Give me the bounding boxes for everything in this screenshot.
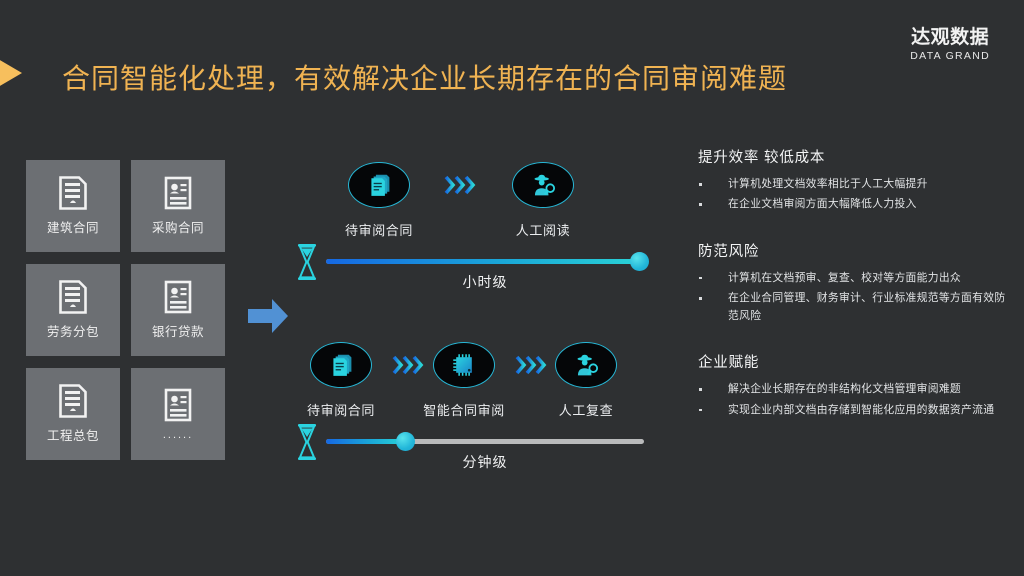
benefit-section: 企业赋能 解决企业长期存在的非结构化文档管理审阅难题 实现企业内部文档由存储到智… bbox=[698, 351, 1010, 419]
title-arrow-icon bbox=[0, 45, 22, 101]
flow-node-pending-contracts[interactable] bbox=[310, 342, 372, 388]
flow-manual: 待审阅合同 人工阅读 小时级 bbox=[296, 162, 644, 288]
tile-label: 银行贷款 bbox=[152, 321, 204, 340]
slider-knob[interactable] bbox=[396, 432, 415, 451]
benefit-bullet: 在企业合同管理、财务审计、行业标准规范等方面有效防范风险 bbox=[698, 290, 1010, 325]
tile-contract-type[interactable]: ...... bbox=[131, 368, 225, 460]
flow-node-row bbox=[296, 342, 644, 394]
stacked-documents-icon bbox=[328, 352, 355, 379]
detective-person-magnifier-icon bbox=[530, 172, 557, 199]
bullet-dot-icon bbox=[699, 388, 702, 391]
tile-label: 劳务分包 bbox=[47, 321, 99, 340]
cpu-chip-icon bbox=[451, 352, 477, 378]
benefit-bullet-text: 计算机处理文档效率相比于人工大幅提升 bbox=[728, 178, 928, 190]
benefit-bullet: 计算机在文档预审、复查、校对等方面能力出众 bbox=[698, 270, 1010, 287]
benefit-bullet-list: 计算机处理文档效率相比于人工大幅提升 在企业文档审阅方面大幅降低人力投入 bbox=[698, 176, 1010, 214]
benefit-bullet-list: 计算机在文档预审、复查、校对等方面能力出众 在企业合同管理、财务审计、行业标准规… bbox=[698, 270, 1010, 325]
duration-slider-manual[interactable]: 小时级 bbox=[296, 242, 644, 288]
flow-node-ai-review[interactable] bbox=[433, 342, 495, 388]
slide-canvas: 达观数据 DATA GRAND 合同智能化处理，有效解决企业长期存在的合同审阅难… bbox=[0, 0, 1024, 576]
slider-fill bbox=[326, 259, 644, 264]
flow-node-label: 待审阅合同 bbox=[345, 220, 413, 239]
duration-slider-ai[interactable]: 分钟级 bbox=[296, 422, 644, 468]
flow-ai: 待审阅合同 智能合同审阅 人工复查 分钟级 bbox=[296, 342, 644, 468]
benefit-bullet-text: 在企业合同管理、财务审计、行业标准规范等方面有效防范风险 bbox=[728, 292, 1005, 321]
id-card-document-icon bbox=[163, 388, 193, 422]
flow-node-row bbox=[296, 162, 644, 214]
flow-node-label: 人工阅读 bbox=[516, 220, 570, 239]
tile-contract-type[interactable]: 采购合同 bbox=[131, 160, 225, 252]
flow-node-label: 待审阅合同 bbox=[307, 400, 375, 419]
stacked-documents-icon bbox=[366, 172, 393, 199]
benefit-bullet-list: 解决企业长期存在的非结构化文档管理审阅难题 实现企业内部文档由存储到智能化应用的… bbox=[698, 381, 1010, 419]
triple-chevron-right-icon bbox=[515, 354, 549, 376]
benefit-title: 企业赋能 bbox=[698, 351, 1010, 372]
bullet-dot-icon bbox=[699, 297, 702, 300]
bullet-dot-icon bbox=[699, 183, 702, 186]
brand-logo: 达观数据 DATA GRAND bbox=[910, 28, 990, 62]
benefit-bullet-text: 计算机在文档预审、复查、校对等方面能力出众 bbox=[728, 272, 961, 284]
triple-chevron-right-icon bbox=[444, 174, 478, 196]
benefit-bullet-text: 解决企业长期存在的非结构化文档管理审阅难题 bbox=[728, 383, 961, 395]
benefits-panel: 提升效率 较低成本 计算机处理文档效率相比于人工大幅提升 在企业文档审阅方面大幅… bbox=[698, 146, 1010, 422]
right-arrow-icon bbox=[246, 296, 290, 336]
slider-track[interactable] bbox=[326, 439, 644, 444]
benefit-bullet: 在企业文档审阅方面大幅降低人力投入 bbox=[698, 196, 1010, 213]
slider-fill bbox=[326, 439, 406, 444]
tile-label: 工程总包 bbox=[47, 425, 99, 444]
contract-type-grid: 建筑合同 采购合同 bbox=[26, 160, 225, 460]
slider-track[interactable] bbox=[326, 259, 644, 264]
benefit-bullet: 计算机处理文档效率相比于人工大幅提升 bbox=[698, 176, 1010, 193]
tile-label: 建筑合同 bbox=[47, 217, 99, 236]
flow-node-label: 人工复查 bbox=[559, 400, 613, 419]
duration-tier-label: 分钟级 bbox=[296, 452, 644, 472]
benefit-bullet-text: 在企业文档审阅方面大幅降低人力投入 bbox=[728, 198, 917, 210]
benefit-title: 提升效率 较低成本 bbox=[698, 146, 1010, 167]
logo-text-cn: 达观数据 bbox=[910, 28, 990, 48]
benefit-bullet: 解决企业长期存在的非结构化文档管理审阅难题 bbox=[698, 381, 1010, 398]
tile-contract-type[interactable]: 劳务分包 bbox=[26, 264, 120, 356]
triple-chevron-right-icon bbox=[392, 354, 426, 376]
tile-label: ...... bbox=[163, 429, 193, 441]
duration-tier-label: 小时级 bbox=[296, 272, 644, 292]
logo-text-en: DATA GRAND bbox=[910, 50, 990, 62]
detective-person-magnifier-icon bbox=[573, 352, 600, 379]
benefit-bullet-text: 实现企业内部文档由存储到智能化应用的数据资产流通 bbox=[728, 404, 994, 416]
id-card-document-icon bbox=[163, 176, 193, 210]
benefit-title: 防范风险 bbox=[698, 240, 1010, 261]
flow-node-pending-contracts[interactable] bbox=[348, 162, 410, 208]
benefit-section: 防范风险 计算机在文档预审、复查、校对等方面能力出众 在企业合同管理、财务审计、… bbox=[698, 240, 1010, 325]
document-contract-icon bbox=[58, 280, 88, 314]
tile-label: 采购合同 bbox=[152, 217, 204, 236]
tile-contract-type[interactable]: 工程总包 bbox=[26, 368, 120, 460]
slider-knob[interactable] bbox=[630, 252, 649, 271]
flow-node-label: 智能合同审阅 bbox=[423, 400, 505, 419]
benefit-bullet: 实现企业内部文档由存储到智能化应用的数据资产流通 bbox=[698, 402, 1010, 419]
benefit-section: 提升效率 较低成本 计算机处理文档效率相比于人工大幅提升 在企业文档审阅方面大幅… bbox=[698, 146, 1010, 214]
bullet-dot-icon bbox=[699, 409, 702, 412]
document-contract-icon bbox=[58, 176, 88, 210]
bullet-dot-icon bbox=[699, 203, 702, 206]
tile-contract-type[interactable]: 银行贷款 bbox=[131, 264, 225, 356]
tile-contract-type[interactable]: 建筑合同 bbox=[26, 160, 120, 252]
page-title: 合同智能化处理，有效解决企业长期存在的合同审阅难题 bbox=[62, 57, 787, 97]
bullet-dot-icon bbox=[699, 277, 702, 280]
flow-node-manual-recheck[interactable] bbox=[555, 342, 617, 388]
flow-node-manual-reading[interactable] bbox=[512, 162, 574, 208]
flow-label-row: 待审阅合同 智能合同审阅 人工复查 bbox=[296, 400, 644, 422]
id-card-document-icon bbox=[163, 280, 193, 314]
flow-label-row: 待审阅合同 人工阅读 bbox=[296, 220, 644, 242]
document-contract-icon bbox=[58, 384, 88, 418]
